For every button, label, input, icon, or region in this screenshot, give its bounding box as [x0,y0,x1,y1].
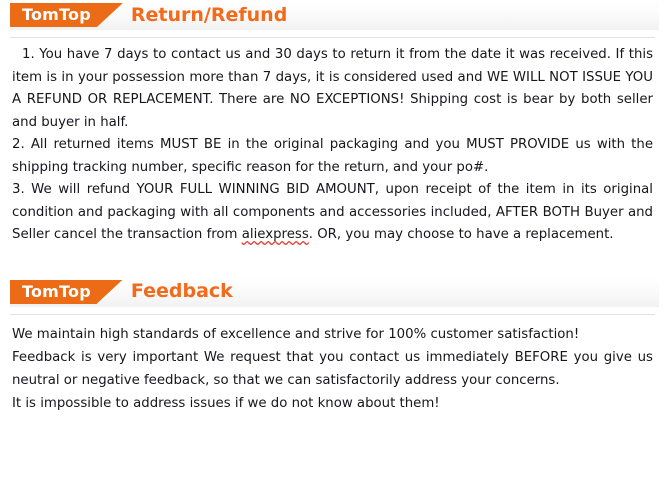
feedback-line-3: It is impossible to address issues if we… [12,392,653,415]
section-title-return-refund: Return/Refund [131,6,287,25]
feedback-line-1: We maintain high standards of excellence… [12,323,653,346]
brand-name-label: TomTop [22,284,91,300]
feedback-body: We maintain high standards of excellence… [0,315,667,415]
policy-paragraph-3: 3. We will refund YOUR FULL WINNING BID … [12,179,653,247]
policy-paragraph-3-suffix: . OR, you may choose to have a replaceme… [309,227,614,242]
policy-paragraph-2-text: 2. All returned items MUST BE in the ori… [12,137,653,175]
page-root: TomTop Return/Refund 1. You have 7 days … [0,0,667,498]
policy-paragraph-1: 1. You have 7 days to contact us and 30 … [12,44,653,134]
badge-arrow-icon [97,280,123,304]
misspelled-word-aliexpress: aliexpress [242,227,309,242]
brand-name-label: TomTop [22,7,91,23]
badge-arrow-icon [97,3,123,27]
brand-badge-feedback: TomTop [10,280,97,304]
section-header-feedback: TomTop Feedback [10,277,659,307]
policy-paragraph-1-text: 1. You have 7 days to contact us and 30 … [12,47,653,130]
brand-badge-return-refund: TomTop [10,3,97,27]
feedback-line-2: Feedback is very important We request th… [12,346,653,392]
section-title-feedback: Feedback [131,282,233,301]
section-spacer [0,247,667,277]
policy-paragraph-2: 2. All returned items MUST BE in the ori… [12,134,653,179]
return-refund-body: 1. You have 7 days to contact us and 30 … [0,38,667,247]
section-header-return-refund: TomTop Return/Refund [10,0,659,30]
